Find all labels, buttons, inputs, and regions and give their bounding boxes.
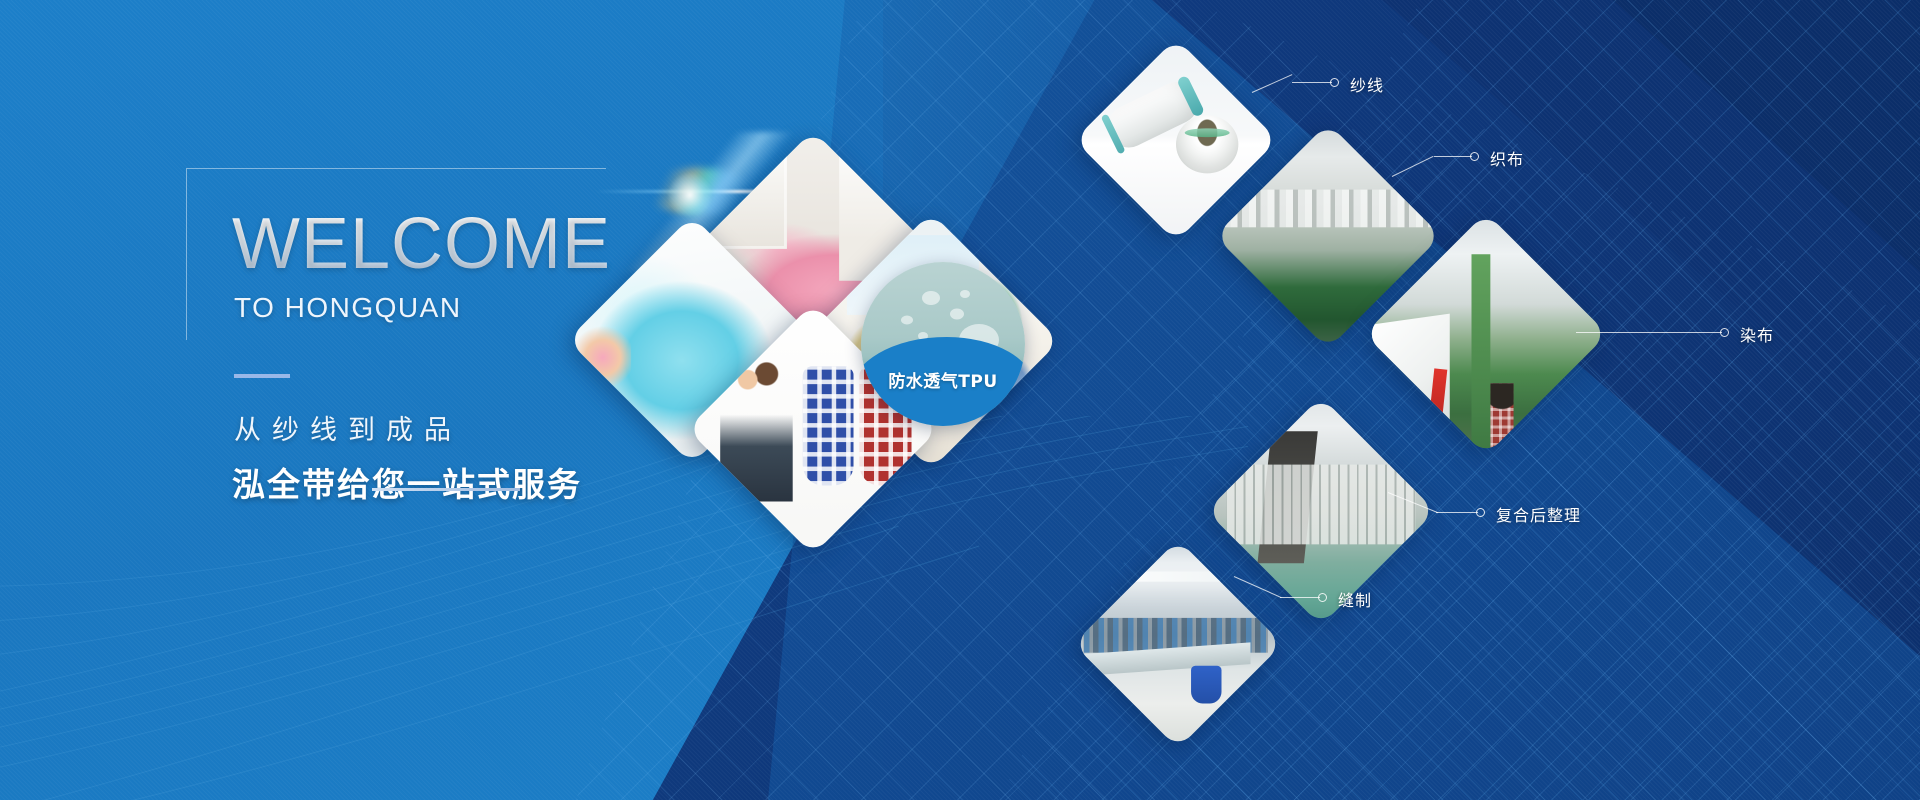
headline-chinese: 泓全带给您一站式服务 [232,458,582,506]
process-label-dyeing: 染布 [1740,322,1774,346]
wave-lines-decoration [0,416,1248,800]
callout-dot [1318,593,1327,602]
tagline-chinese: 从纱线到成品 [234,408,462,447]
welcome-heading: WELCOME [232,208,611,280]
callout-line [1280,597,1320,598]
tpu-badge-label: 防水透气TPU [861,367,1025,392]
process-label-weaving: 织布 [1490,146,1524,170]
callout-dot [1476,508,1485,517]
callout-line [1434,156,1472,157]
tpu-feature-badge[interactable]: 防水透气TPU [861,262,1025,426]
process-label-sewing: 缝制 [1338,587,1372,611]
callout-dot [1330,78,1339,87]
callout-dot [1470,152,1479,161]
wave-lines-svg [0,416,1248,800]
process-label-lamination: 复合后整理 [1496,502,1581,526]
callout-line [1576,332,1722,333]
process-label-yarn: 纱线 [1350,72,1384,96]
bottom-accent-rule [372,488,520,491]
callout-line [1292,82,1332,83]
welcome-subheading: TO HONGQUAN [234,292,462,324]
callout-dot [1720,328,1729,337]
callout-line [1436,512,1478,513]
accent-rule [234,374,290,378]
hero-banner: WELCOME TO HONGQUAN 从纱线到成品 泓全带给您一站式服务 [0,0,1920,800]
